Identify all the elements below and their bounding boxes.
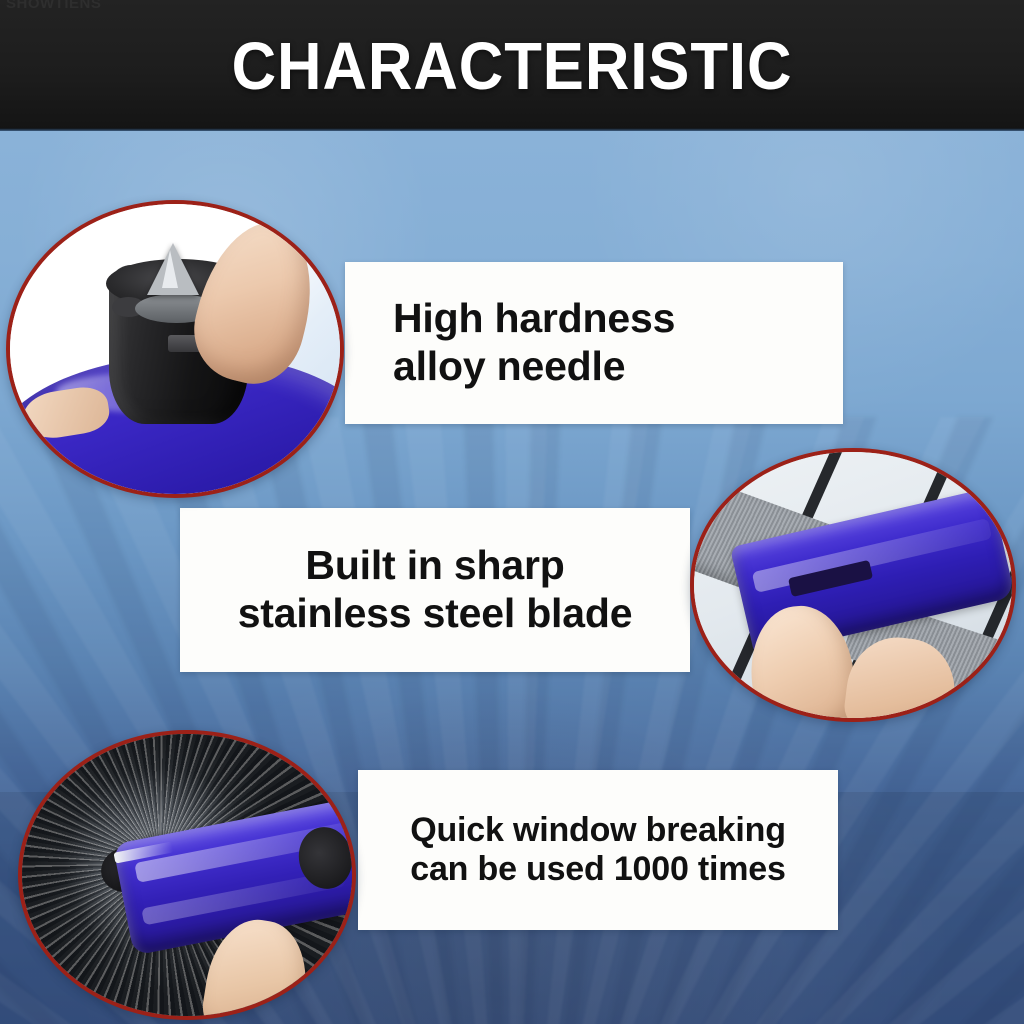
feature-caption-plate-2: Built in sharp stainless steel blade <box>180 508 690 672</box>
feature-caption-line: stainless steel blade <box>238 590 633 638</box>
seatbelt-cutter-photo <box>690 448 1016 722</box>
feature-caption-plate-1: High hardness alloy needle <box>345 262 843 424</box>
needle-tip-photo <box>6 200 344 498</box>
alloy-needle-highlight <box>162 250 178 288</box>
seatbelt-cutter-scene <box>694 452 1012 718</box>
window-breaking-photo <box>18 730 356 1020</box>
header-watermark-text: SHOWTIENS <box>6 0 101 12</box>
feature-caption-line: can be used 1000 times <box>410 850 785 889</box>
header-band: SHOWTIENS CHARACTERISTIC <box>0 0 1024 131</box>
feature-caption-line: Quick window breaking <box>410 811 786 850</box>
window-breaking-scene <box>22 734 352 1016</box>
feature-caption-line: alloy needle <box>393 343 843 391</box>
page-title: CHARACTERISTIC <box>41 33 983 100</box>
feature-caption-plate-3: Quick window breaking can be used 1000 t… <box>358 770 838 930</box>
product-feature-infographic: SHOWTIENS CHARACTERISTIC High hardness a… <box>0 0 1024 1024</box>
feature-caption-line: Built in sharp <box>305 542 564 590</box>
feature-caption-line: High hardness <box>393 295 843 343</box>
needle-tip-scene <box>10 204 340 494</box>
